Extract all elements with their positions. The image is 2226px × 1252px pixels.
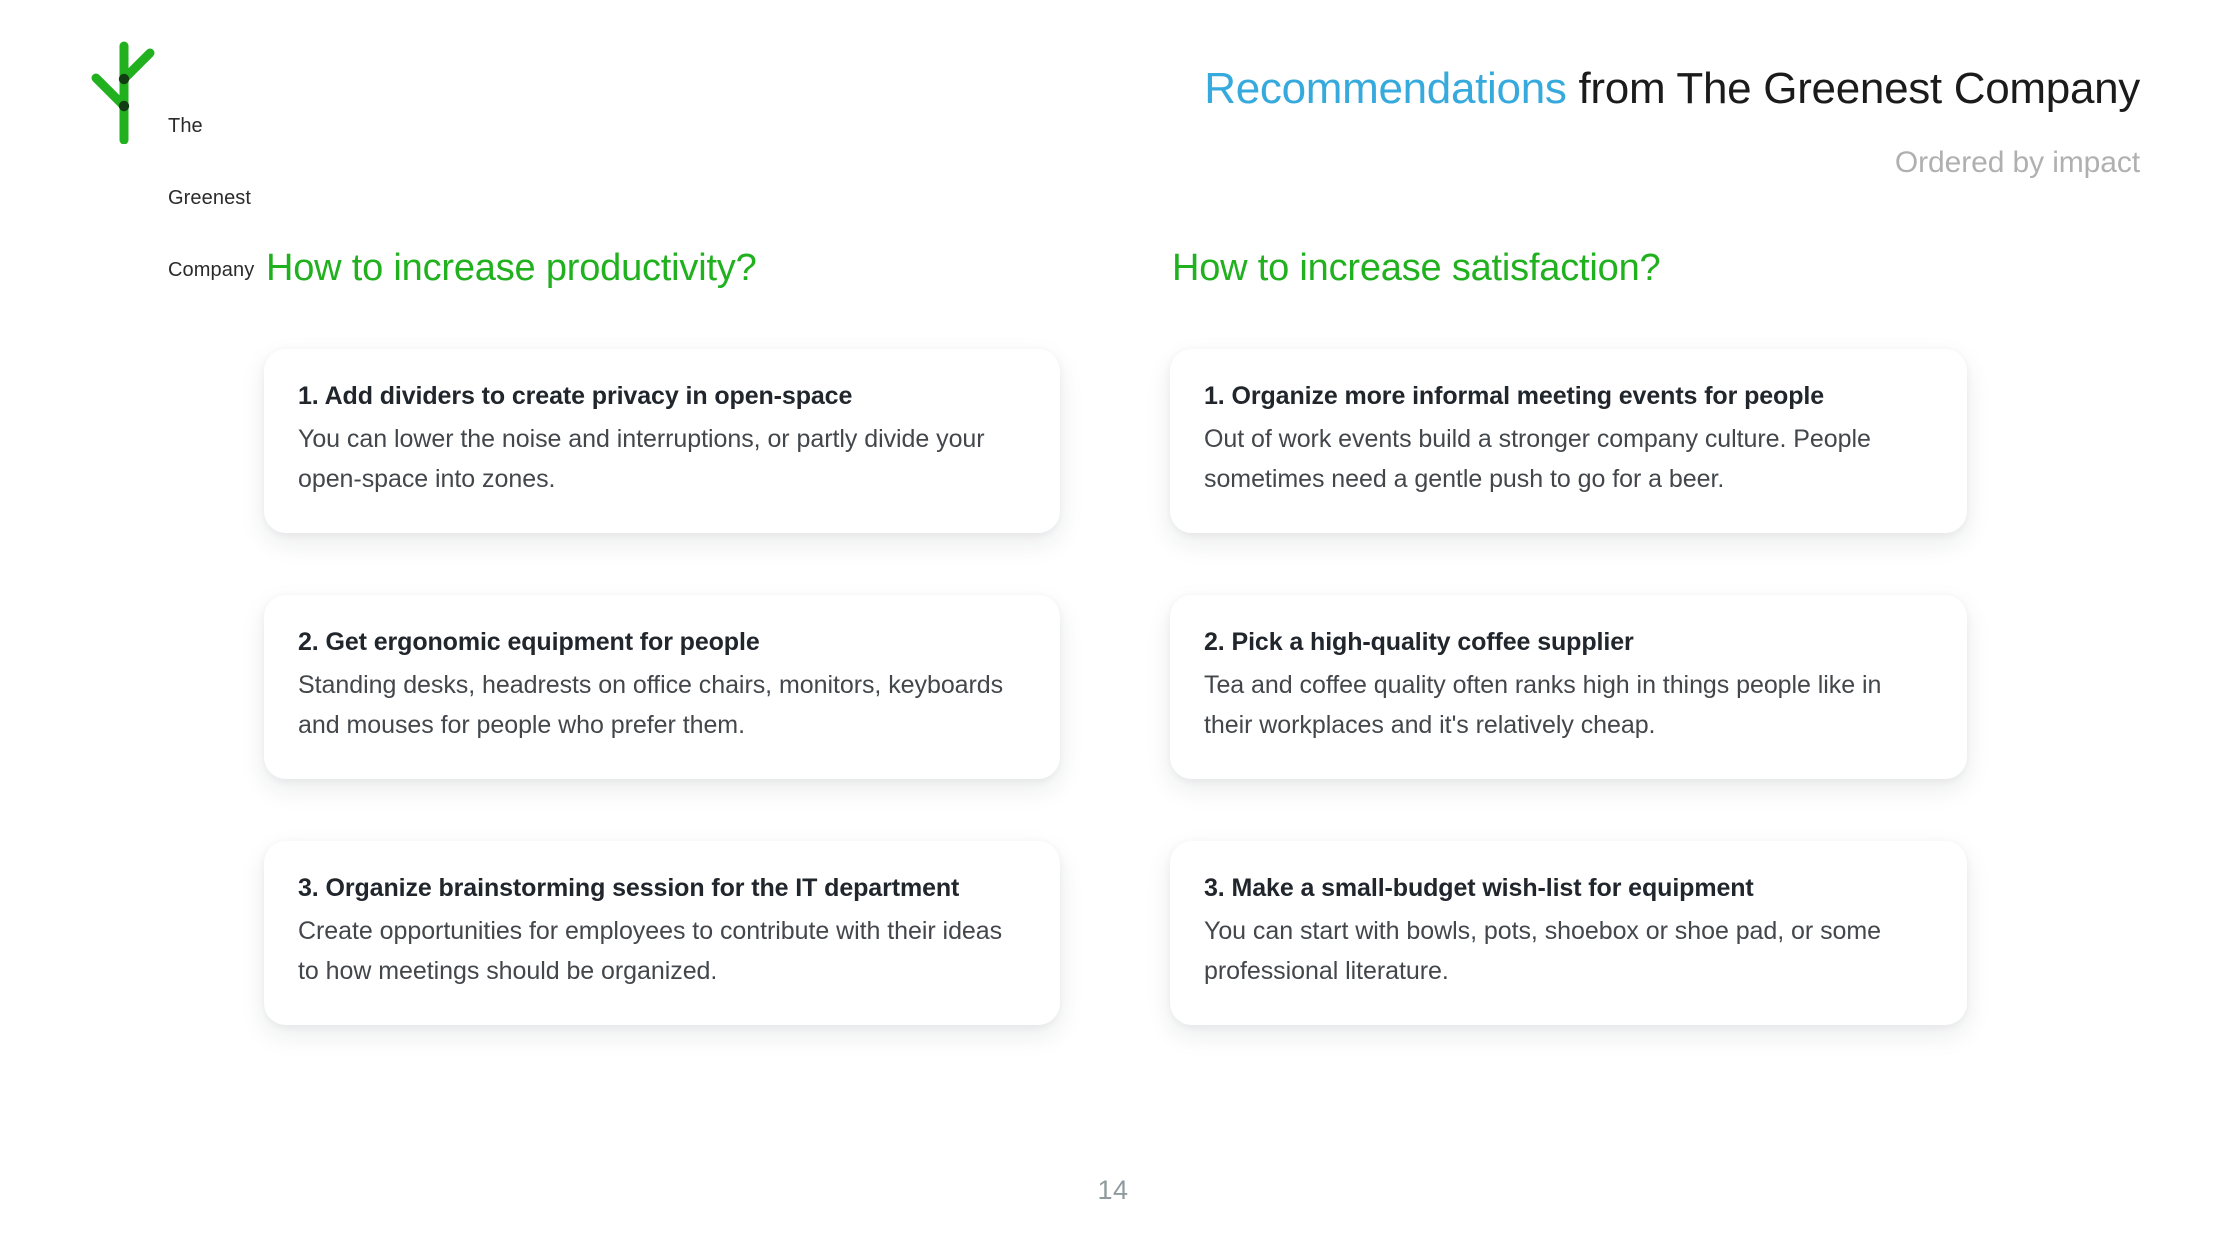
recommendation-body: Create opportunities for employees to co…	[298, 911, 1026, 991]
brand-wordmark-line-2: Greenest	[168, 186, 254, 210]
recommendation-body: Out of work events build a stronger comp…	[1204, 419, 1933, 499]
recommendation-card[interactable]: 2. Get ergonomic equipment for people St…	[264, 595, 1060, 779]
column-satisfaction: How to increase satisfaction? 1. Organiz…	[1170, 245, 1967, 1025]
recommendation-card[interactable]: 1. Add dividers to create privacy in ope…	[264, 349, 1060, 533]
page-title-accent: Recommendations	[1204, 64, 1566, 113]
page-number: 14	[0, 1175, 2226, 1206]
brand-wordmark: The Greenest Company	[168, 66, 254, 330]
brand-logo: The Greenest Company	[86, 36, 326, 148]
column-productivity: How to increase productivity? 1. Add div…	[264, 245, 1060, 1025]
recommendation-title: 2. Pick a high-quality coffee supplier	[1204, 625, 1933, 659]
recommendation-card[interactable]: 1. Organize more informal meeting events…	[1170, 349, 1967, 533]
recommendation-title: 2. Get ergonomic equipment for people	[298, 625, 1026, 659]
column-heading-productivity: How to increase productivity?	[266, 245, 1060, 291]
recommendation-card[interactable]: 3. Organize brainstorming session for th…	[264, 841, 1060, 1025]
recommendation-body: You can lower the noise and interruption…	[298, 419, 1026, 499]
recommendation-body: Standing desks, headrests on office chai…	[298, 665, 1026, 745]
recommendation-card[interactable]: 3. Make a small-budget wish-list for equ…	[1170, 841, 1967, 1025]
recommendation-card[interactable]: 2. Pick a high-quality coffee supplier T…	[1170, 595, 1967, 779]
recommendation-body: You can start with bowls, pots, shoebox …	[1204, 911, 1933, 991]
page-title-rest: from The Greenest Company	[1567, 64, 2140, 113]
brand-wordmark-line-1: The	[168, 114, 254, 138]
brand-wordmark-line-3: Company	[168, 258, 254, 282]
column-heading-satisfaction: How to increase satisfaction?	[1172, 245, 1967, 291]
sprout-plant-icon	[86, 36, 164, 144]
recommendation-title: 1. Add dividers to create privacy in ope…	[298, 379, 1026, 413]
page-subtitle: Ordered by impact	[1895, 144, 2140, 182]
recommendation-title: 3. Make a small-budget wish-list for equ…	[1204, 871, 1933, 905]
recommendation-title: 3. Organize brainstorming session for th…	[298, 871, 1026, 905]
recommendation-title: 1. Organize more informal meeting events…	[1204, 379, 1933, 413]
page-title: Recommendations from The Greenest Compan…	[1204, 62, 2140, 116]
recommendation-body: Tea and coffee quality often ranks high …	[1204, 665, 1933, 745]
